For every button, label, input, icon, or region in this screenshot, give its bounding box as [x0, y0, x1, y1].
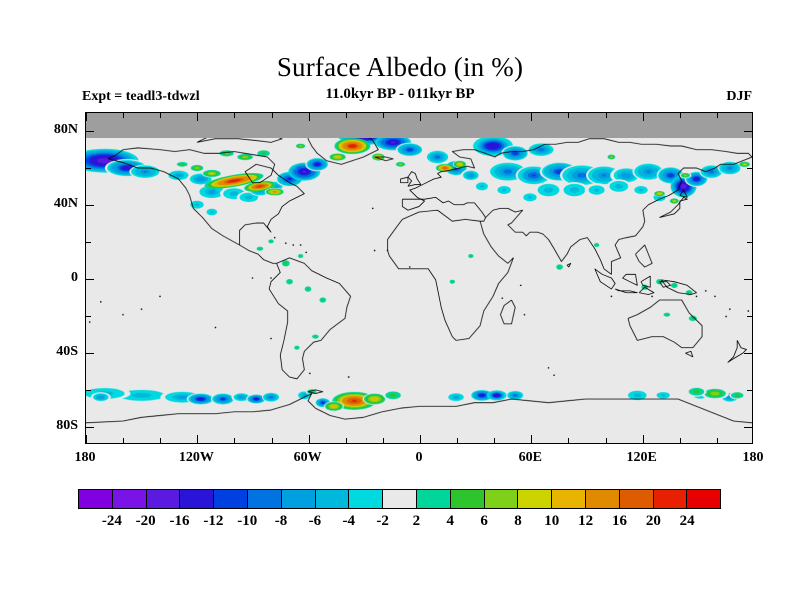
x-axis-label: 60W — [294, 450, 322, 466]
y-axis-tick-right — [747, 390, 753, 391]
y-axis-tick-right — [747, 316, 753, 317]
y-axis-label: 0 — [38, 270, 78, 286]
colorbar-tick-label: -8 — [275, 513, 288, 530]
colorbar-tick-label: -6 — [309, 513, 322, 530]
colorbar-tick-label: 16 — [612, 513, 627, 530]
x-axis-tick-top — [606, 112, 607, 118]
y-axis-label: 80N — [38, 122, 78, 138]
y-axis-label: 40N — [38, 196, 78, 212]
x-axis-tick — [346, 438, 347, 444]
x-axis-label: 0 — [416, 450, 423, 466]
x-axis-tick — [717, 438, 718, 444]
experiment-label: Expt = teadl3-tdwzl — [82, 89, 200, 105]
x-axis-tick-top — [123, 112, 124, 118]
y-axis-tick-right — [744, 205, 753, 206]
x-axis-tick — [234, 438, 235, 444]
colorbar-cell-11 — [451, 490, 485, 508]
colorbar-cell-1 — [113, 490, 147, 508]
albedo-anomaly-heatmap — [86, 113, 752, 443]
colorbar-cell-13 — [518, 490, 552, 508]
colorbar-tick-label: 2 — [413, 513, 421, 530]
x-axis-tick-top — [643, 112, 644, 121]
colorbar-cell-5 — [248, 490, 282, 508]
colorbar-cell-7 — [316, 490, 350, 508]
x-axis-label: 120W — [179, 450, 214, 466]
colorbar-cell-10 — [417, 490, 451, 508]
x-axis-tick-top — [86, 112, 87, 121]
x-axis-tick-top — [680, 112, 681, 118]
colorbar-tick-label: 10 — [544, 513, 559, 530]
colorbar-cell-3 — [180, 490, 214, 508]
x-axis-tick — [457, 438, 458, 444]
y-axis-tick-right — [744, 279, 753, 280]
colorbar-tick-label: 6 — [480, 513, 488, 530]
colorbar-cell-12 — [485, 490, 519, 508]
colorbar-tick-label: 8 — [514, 513, 522, 530]
colorbar-cell-9 — [383, 490, 417, 508]
x-axis-tick-top — [309, 112, 310, 121]
x-axis-tick — [123, 438, 124, 444]
x-axis-tick — [606, 438, 607, 444]
colorbar-cell-8 — [349, 490, 383, 508]
y-axis-tick — [85, 131, 94, 132]
x-axis-tick-top — [457, 112, 458, 118]
y-axis-label: 40S — [38, 344, 78, 360]
x-axis-tick-top — [717, 112, 718, 118]
colorbar-tick-label: 4 — [447, 513, 455, 530]
x-axis-tick-top — [420, 112, 421, 121]
x-axis-tick-top — [346, 112, 347, 118]
colorbar-cell-2 — [147, 490, 181, 508]
page-title: Surface Albedo (in %) — [0, 52, 800, 83]
colorbar-cell-4 — [214, 490, 248, 508]
y-axis-tick — [85, 279, 94, 280]
y-axis-tick-right — [747, 168, 753, 169]
season-label: DJF — [726, 89, 752, 105]
x-axis-tick-top — [272, 112, 273, 118]
map-plot-area — [85, 112, 753, 444]
arctic-mask-band — [86, 113, 752, 138]
colorbar-cell-6 — [282, 490, 316, 508]
y-axis-tick-right — [744, 427, 753, 428]
colorbar-cell-18 — [687, 490, 720, 508]
colorbar-tick-label: -2 — [376, 513, 389, 530]
x-axis-tick — [86, 435, 87, 444]
y-axis-tick — [85, 242, 91, 243]
figure-canvas: Surface Albedo (in %) 11.0kyr BP - 011ky… — [0, 0, 800, 600]
x-axis-tick — [160, 438, 161, 444]
colorbar-tick-label: -16 — [170, 513, 190, 530]
x-axis-tick — [309, 435, 310, 444]
x-axis-tick — [531, 435, 532, 444]
colorbar-tick-label: -10 — [237, 513, 257, 530]
y-axis-tick — [85, 390, 91, 391]
x-axis-tick-top — [160, 112, 161, 118]
colorbar-tick-label: 20 — [646, 513, 661, 530]
colorbar-cell-14 — [552, 490, 586, 508]
y-axis-tick — [85, 205, 94, 206]
x-axis-tick — [420, 435, 421, 444]
colorbar-tick-label: -4 — [342, 513, 355, 530]
y-axis-tick-right — [744, 131, 753, 132]
y-axis-tick — [85, 353, 94, 354]
colorbar-tick-label: -24 — [102, 513, 122, 530]
colorbar-tick-label: 24 — [680, 513, 695, 530]
colorbar-tick-label: -20 — [136, 513, 156, 530]
x-axis-tick — [643, 435, 644, 444]
x-axis-tick-top — [383, 112, 384, 118]
colorbar-cell-15 — [586, 490, 620, 508]
x-axis-tick — [494, 438, 495, 444]
colorbar-tick-label: 12 — [578, 513, 593, 530]
x-axis-label: 60E — [519, 450, 542, 466]
x-axis-tick-top — [197, 112, 198, 121]
y-axis-tick — [85, 316, 91, 317]
x-axis-tick — [568, 438, 569, 444]
y-axis-tick-right — [747, 242, 753, 243]
colorbar-cell-17 — [654, 490, 688, 508]
colorbar-cell-16 — [620, 490, 654, 508]
x-axis-tick-top — [494, 112, 495, 118]
x-axis-label: 120E — [626, 450, 656, 466]
y-axis-tick — [85, 427, 94, 428]
x-axis-tick — [197, 435, 198, 444]
colorbar — [78, 489, 721, 509]
x-axis-tick — [272, 438, 273, 444]
colorbar-tick-label: -12 — [203, 513, 223, 530]
x-axis-tick-top — [568, 112, 569, 118]
x-axis-tick — [680, 438, 681, 444]
y-axis-tick — [85, 168, 91, 169]
y-axis-label: 80S — [38, 418, 78, 434]
y-axis-tick-right — [744, 353, 753, 354]
x-axis-label: 180 — [75, 450, 96, 466]
x-axis-label: 180 — [743, 450, 764, 466]
colorbar-cell-0 — [79, 490, 113, 508]
x-axis-tick-top — [531, 112, 532, 121]
x-axis-tick-top — [234, 112, 235, 118]
x-axis-tick — [383, 438, 384, 444]
